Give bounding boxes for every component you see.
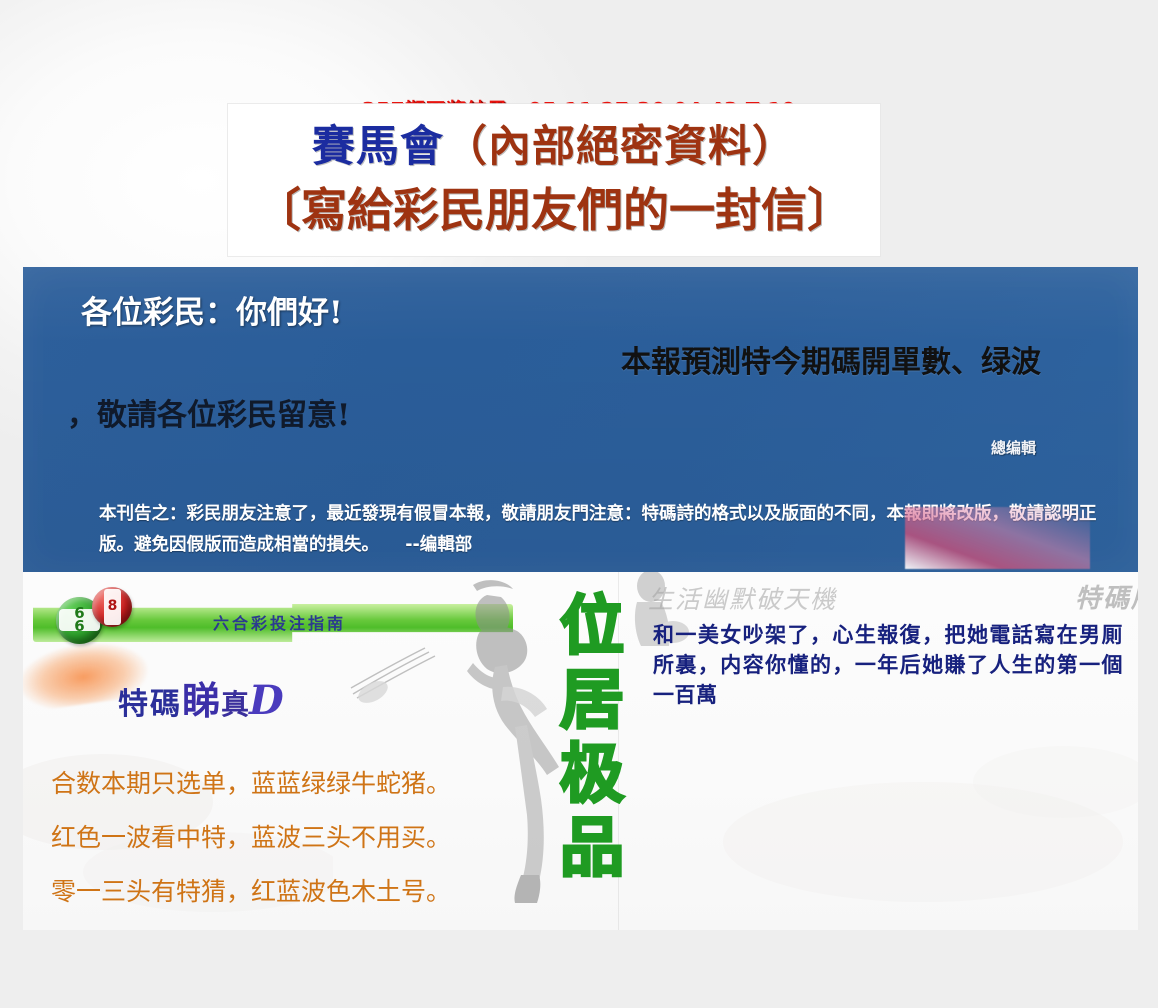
verse-line: 红色一波看中特，蓝波三头不用买。 (51, 811, 551, 865)
letter-notice: 本刊告之：彩民朋友注意了，最近發現有假冒本報，敬請朋友門注意：特碼詩的格式以及版… (99, 499, 1109, 561)
whisk-decoration-icon (345, 642, 465, 712)
brand-title: 特碼睇真D (118, 670, 284, 725)
title-subtitle: （內部絕密資料） (444, 122, 796, 172)
brand-part-1: 特碼 (118, 687, 182, 722)
vertical-headline-char: 居 (551, 664, 633, 738)
letter-greeting: 各位彩民：你們好! (81, 287, 343, 332)
masthead-logo: 六合彩投注指南 6 6 8 特碼睇真D (23, 582, 543, 742)
verse-line: 零一三头有特猜，红蓝波色木土号。 (51, 865, 551, 919)
watermark-right-label: 特碼版 (1075, 578, 1138, 615)
letter-prediction: 本報預測特今期碼開單數、绿波 (621, 337, 1041, 381)
watermark-brush-right (723, 722, 1138, 930)
brand-part-2: 睇 (182, 678, 221, 723)
vertical-headline-char: 位 (551, 590, 633, 664)
title-banner: 賽馬會（內部絕密資料） 〔寫給彩民朋友們的一封信〕 (228, 104, 880, 256)
content-panel: 六合彩投注指南 6 6 8 特碼睇真D (23, 572, 1138, 930)
editor-signature: 總编輯 (991, 437, 1036, 458)
vertical-headline-char: 极 (551, 738, 633, 812)
ball-red-number: 8 (100, 598, 125, 614)
letter-attention: ，敬請各位彩民留意! (67, 390, 350, 434)
vertical-headline: 位 居 极 品 (551, 590, 633, 886)
brand-part-4: D (249, 677, 284, 724)
guide-label: 六合彩投注指南 (213, 610, 346, 634)
lottery-ball-red-icon: 8 (92, 587, 132, 627)
title-line-1: 賽馬會（內部絕密資料） (228, 122, 880, 172)
vertical-headline-char: 品 (551, 812, 633, 886)
verse-block: 合数本期只选单，蓝蓝绿绿牛蛇猪。 红色一波看中特，蓝波三头不用买。 零一三头有特… (51, 757, 551, 919)
verse-line: 合数本期只选单，蓝蓝绿绿牛蛇猪。 (51, 757, 551, 811)
title-line-2: 〔寫給彩民朋友們的一封信〕 (228, 182, 880, 238)
poster-canvas: 357期开奖结果：05 11 27 30 04 43 T 19 賽馬會（內部絕密… (0, 0, 1158, 1008)
ball-green-number-bottom: 6 (56, 621, 103, 632)
title-org-name: 賽馬會 (312, 122, 444, 172)
brand-part-3: 真 (221, 688, 249, 721)
letter-panel: 各位彩民：你們好! 本報預測特今期碼開單數、绿波 ，敬請各位彩民留意! 總编輯 … (23, 267, 1138, 572)
story-text: 和一美女吵架了，心生報復，把她電話寫在男厠所裏，内容你懂的，一年后她賺了人生的第… (653, 620, 1123, 710)
watermark-left-label: 生活幽默破天機 (648, 580, 837, 616)
